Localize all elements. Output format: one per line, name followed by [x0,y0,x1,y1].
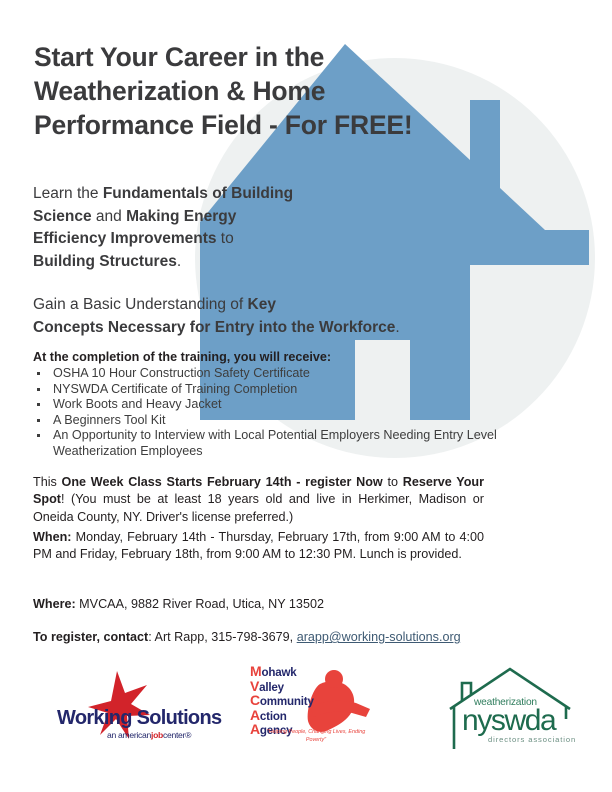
mvcaa-cap-a1: A [250,707,260,723]
mvcaa-wordmark: Mohawk Valley Community Action Agency [250,665,314,738]
when-label: When: [33,530,71,544]
mvcaa-logo: Mohawk Valley Community Action Agency "H… [248,659,383,751]
mvcaa-cap-m: M [250,663,261,679]
mvcaa-rest-1: ohawk [261,666,296,679]
headline-line-3: Performance Field - For FREE! [34,108,504,142]
list-item: OSHA 10 Hour Construction Safety Certifi… [33,366,533,382]
lead1-text-3: to [216,230,233,247]
lead1-bold-2: Science [33,208,92,225]
ws-tag-pre: an american [107,730,151,740]
benefits-list: OSHA 10 Hour Construction Safety Certifi… [33,366,533,460]
lead2-text-2: . [395,319,399,336]
class-text-1: This [33,475,62,489]
register-text: : Art Rapp, 315-798-3679, [148,630,296,644]
list-item: Work Boots and Heavy Jacket [33,397,533,413]
email-link[interactable]: arapp@working-solutions.org [297,630,461,644]
headline-line-2: Weatherization & Home [34,74,504,108]
benefits-heading: At the completion of the training, you w… [33,350,331,364]
when-text: Monday, February 14th - Thursday, Februa… [33,530,484,561]
class-bold-1: One Week Class Starts February 14th - re… [62,475,383,489]
where-text: MVCAA, 9882 River Road, Utica, NY 13502 [76,597,324,611]
lead-paragraph-two: Gain a Basic Understanding of Key Concep… [33,294,483,339]
lead1-text-2: and [92,208,126,225]
schedule-paragraph: When: Monday, February 14th - Thursday, … [33,529,484,564]
logo-row: Working Solutions an americanjobcenter® … [0,655,612,755]
lead1-bold-5: Building Structures [33,253,177,270]
class-announcement-paragraph: This One Week Class Starts February 14th… [33,474,484,526]
lead2-text-1: Gain a Basic Understanding of [33,296,248,313]
where-label: Where: [33,597,76,611]
headline-line-1: Start Your Career in the [34,40,504,74]
lead-paragraph-one: Learn the Fundamentals of Building Scien… [33,183,433,273]
mvcaa-cap-c: C [250,692,260,708]
location-paragraph: Where: MVCAA, 9882 River Road, Utica, NY… [33,596,493,613]
lead1-bold-4: Efficiency Improvements [33,230,216,247]
mvcaa-cap-v: V [250,678,259,694]
lead2-bold-2: Concepts Necessary for Entry into the Wo… [33,319,395,336]
mvcaa-tagline: "Helping People, Changing Lives, Ending … [256,729,376,744]
lead1-bold-1: Fundamentals of Building [103,185,293,202]
class-text-2: to [383,475,403,489]
mvcaa-line-1: Mohawk [250,665,314,680]
ws-tag-job: job [151,730,163,740]
list-item: An Opportunity to Interview with Local P… [33,428,533,459]
contact-paragraph: To register, contact: Art Rapp, 315-798-… [33,629,533,646]
nyswda-wordmark: nyswda [462,704,555,738]
lead1-text-4: . [177,253,181,270]
mvcaa-rest-2: alley [259,681,284,694]
page-title: Start Your Career in the Weatherization … [34,40,504,142]
working-solutions-logo: Working Solutions an americanjobcenter® [55,663,215,753]
mvcaa-rest-3: ommunity [260,695,314,708]
mvcaa-rest-4: ction [260,710,287,723]
class-text-3: ! (You must be at least 18 years old and… [33,492,484,523]
list-item: A Beginners Tool Kit [33,413,533,429]
ws-tag-post: center® [163,730,191,740]
lead2-bold-1: Key [248,296,276,313]
working-solutions-name: Working Solutions [57,707,221,730]
working-solutions-tagline: an americanjobcenter® [107,730,191,740]
list-item: NYSWDA Certificate of Training Completio… [33,382,533,398]
register-label: To register, contact [33,630,148,644]
lead1-text-1: Learn the [33,185,103,202]
nyswda-logo: weatherization nyswda directors associat… [440,657,580,753]
lead1-bold-3: Making Energy [126,208,236,225]
nyswda-subtitle: directors association [488,735,576,744]
